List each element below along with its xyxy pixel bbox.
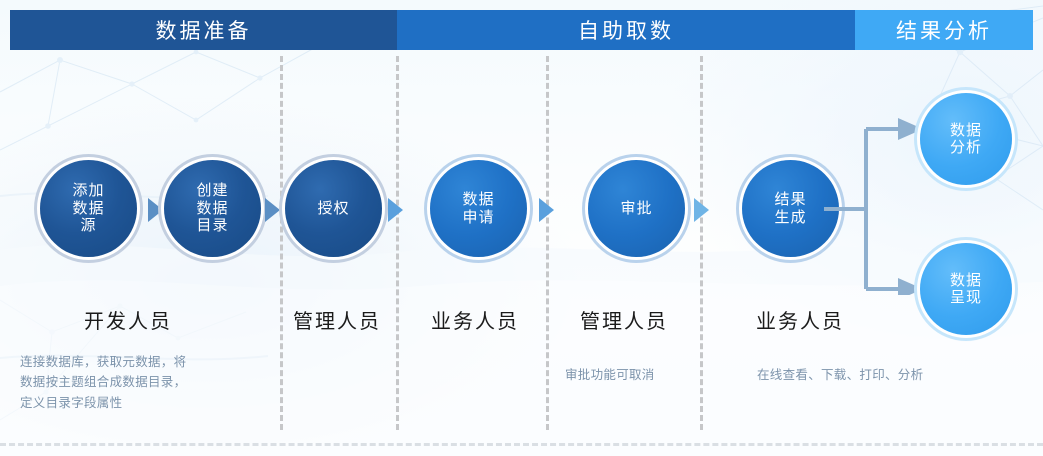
flow-node-label: 审批	[620, 200, 652, 217]
flow-node-data-request[interactable]: 数据 申请	[430, 160, 527, 257]
description-data-preparation: 连接数据库，获取元数据，将 数据按主题组合成数据目录， 定义目录字段属性	[20, 352, 270, 413]
flow-node-label: 授权	[317, 200, 349, 217]
column-divider-3	[546, 56, 549, 430]
arrow-add-to-create-icon	[148, 198, 163, 222]
role-label-developer: 开发人员	[84, 305, 172, 334]
phase-header-data-preparation[interactable]: 数据准备	[10, 10, 397, 50]
column-divider-2	[396, 56, 399, 430]
flow-node-add-datasource[interactable]: 添加 数据 源	[40, 160, 137, 257]
description-result-analysis: 在线查看、下载、打印、分析	[757, 365, 1007, 385]
flow-node-label: 数据 呈现	[950, 272, 982, 307]
flow-node-data-present[interactable]: 数据 呈现	[920, 243, 1012, 335]
diagram-canvas: 数据准备 自助取数 结果分析 添加 数据 源 创建 数据 目录 授权 数据 申请…	[0, 0, 1043, 456]
column-divider-1	[280, 56, 283, 430]
phase-header-label: 数据准备	[156, 15, 252, 45]
description-approval: 审批功能可取消	[565, 365, 705, 385]
flow-node-label: 结果 生成	[774, 191, 806, 226]
phase-header-result-analysis[interactable]: 结果分析	[855, 10, 1033, 50]
arrow-request-to-approval-icon	[539, 198, 554, 222]
bottom-divider	[0, 443, 1043, 446]
flow-node-label: 数据 分析	[950, 122, 982, 157]
flow-node-data-analysis[interactable]: 数据 分析	[920, 93, 1012, 185]
role-label-business-1: 业务人员	[431, 305, 519, 334]
phase-header-label: 自助取数	[578, 15, 674, 45]
role-label-business-2: 业务人员	[756, 305, 844, 334]
arrow-approval-to-result-icon	[694, 198, 709, 222]
phase-header-bar: 数据准备 自助取数 结果分析	[10, 10, 1033, 50]
flow-node-label: 添加 数据 源	[72, 182, 104, 234]
flow-node-label: 创建 数据 目录	[196, 182, 228, 234]
flow-node-authorize[interactable]: 授权	[285, 160, 382, 257]
phase-header-label: 结果分析	[896, 15, 992, 45]
flow-node-approval[interactable]: 审批	[588, 160, 685, 257]
arrow-authorize-to-request-icon	[388, 198, 403, 222]
phase-header-self-service-query[interactable]: 自助取数	[397, 10, 855, 50]
arrow-create-to-authorize-icon	[265, 198, 280, 222]
role-label-admin-1: 管理人员	[293, 305, 381, 334]
role-label-admin-2: 管理人员	[580, 305, 668, 334]
flow-node-create-catalog[interactable]: 创建 数据 目录	[164, 160, 261, 257]
flow-node-label: 数据 申请	[462, 191, 494, 226]
